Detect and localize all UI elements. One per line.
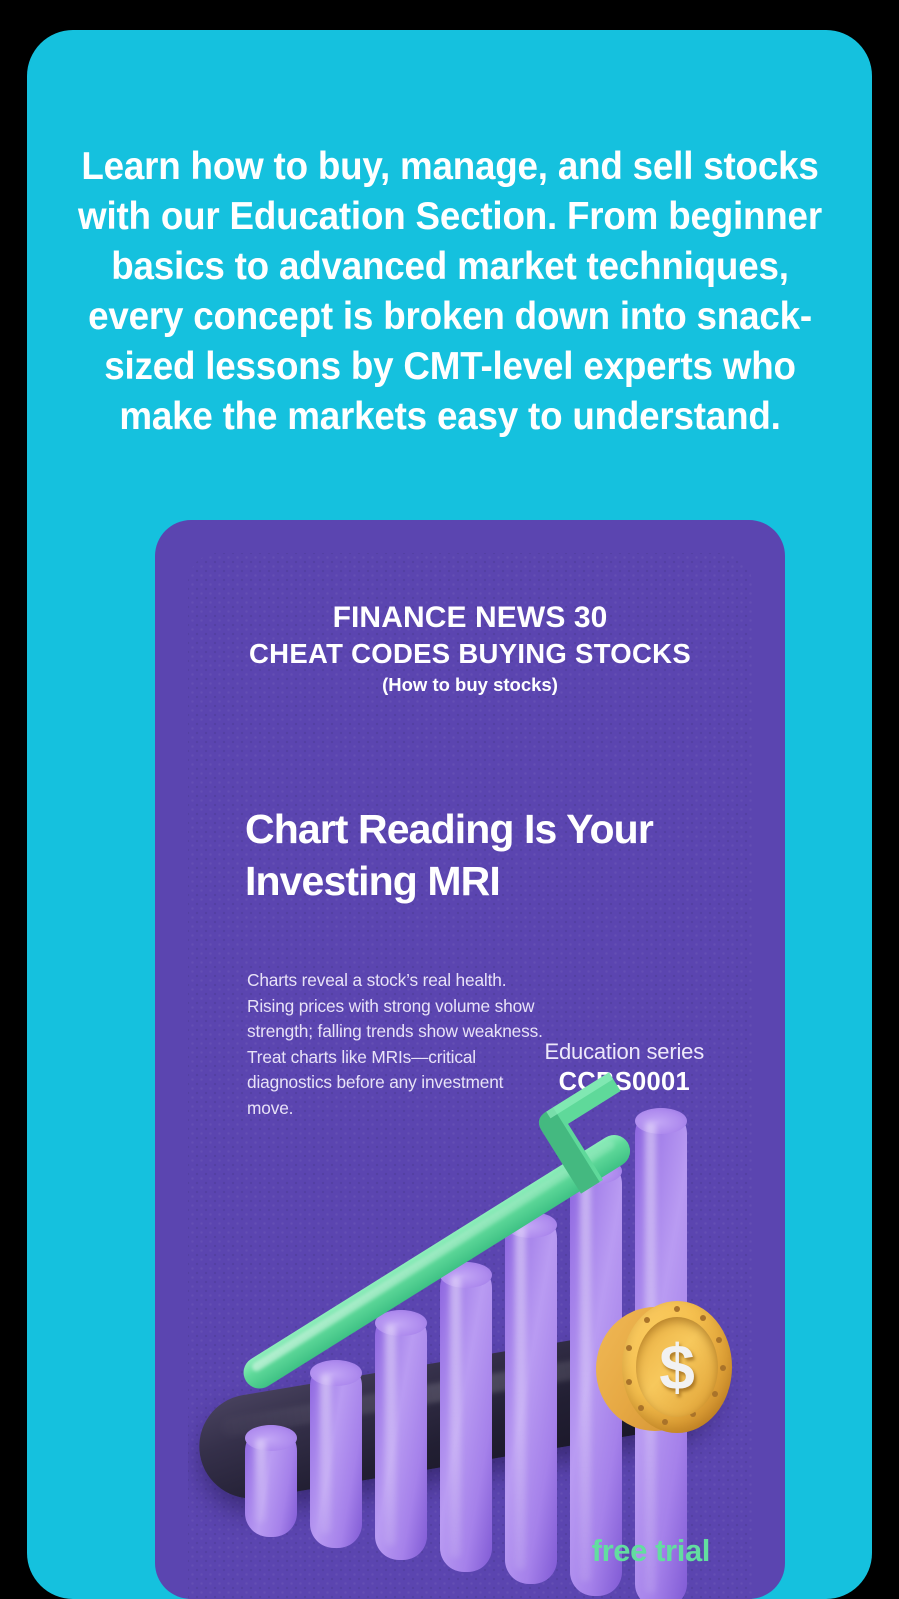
cyan-panel: Learn how to buy, manage, and sell stock… bbox=[27, 30, 872, 1599]
screen-root: Learn how to buy, manage, and sell stock… bbox=[0, 0, 899, 1599]
chart-bar bbox=[440, 1262, 492, 1572]
card-parenthetical: (How to buy stocks) bbox=[188, 673, 752, 697]
dollar-sign-icon: $ bbox=[659, 1335, 695, 1399]
series-label: Education series bbox=[545, 1038, 704, 1066]
chart-bar bbox=[245, 1425, 297, 1537]
chart-bar bbox=[375, 1310, 427, 1560]
hero-headline: Learn how to buy, manage, and sell stock… bbox=[73, 142, 827, 442]
card-header: FINANCE NEWS 30 CHEAT CODES BUYING STOCK… bbox=[188, 601, 752, 697]
growth-chart-illustration: $ bbox=[188, 1073, 752, 1599]
coin-inner-disc: $ bbox=[636, 1317, 718, 1417]
free-trial-label[interactable]: free trial bbox=[592, 1533, 710, 1569]
coin-front-face: $ bbox=[622, 1301, 732, 1433]
chart-bar bbox=[310, 1360, 362, 1548]
chart-bar bbox=[505, 1212, 557, 1584]
card-title: Chart Reading Is Your Investing MRI bbox=[245, 803, 752, 907]
dollar-coin-icon: $ bbox=[596, 1301, 732, 1437]
card-inner-panel: FINANCE NEWS 30 CHEAT CODES BUYING STOCK… bbox=[188, 553, 752, 1599]
card-kicker: FINANCE NEWS 30 bbox=[188, 601, 752, 635]
card-subkicker: CHEAT CODES BUYING STOCKS bbox=[188, 637, 752, 670]
education-card[interactable]: FINANCE NEWS 30 CHEAT CODES BUYING STOCK… bbox=[155, 520, 785, 1599]
